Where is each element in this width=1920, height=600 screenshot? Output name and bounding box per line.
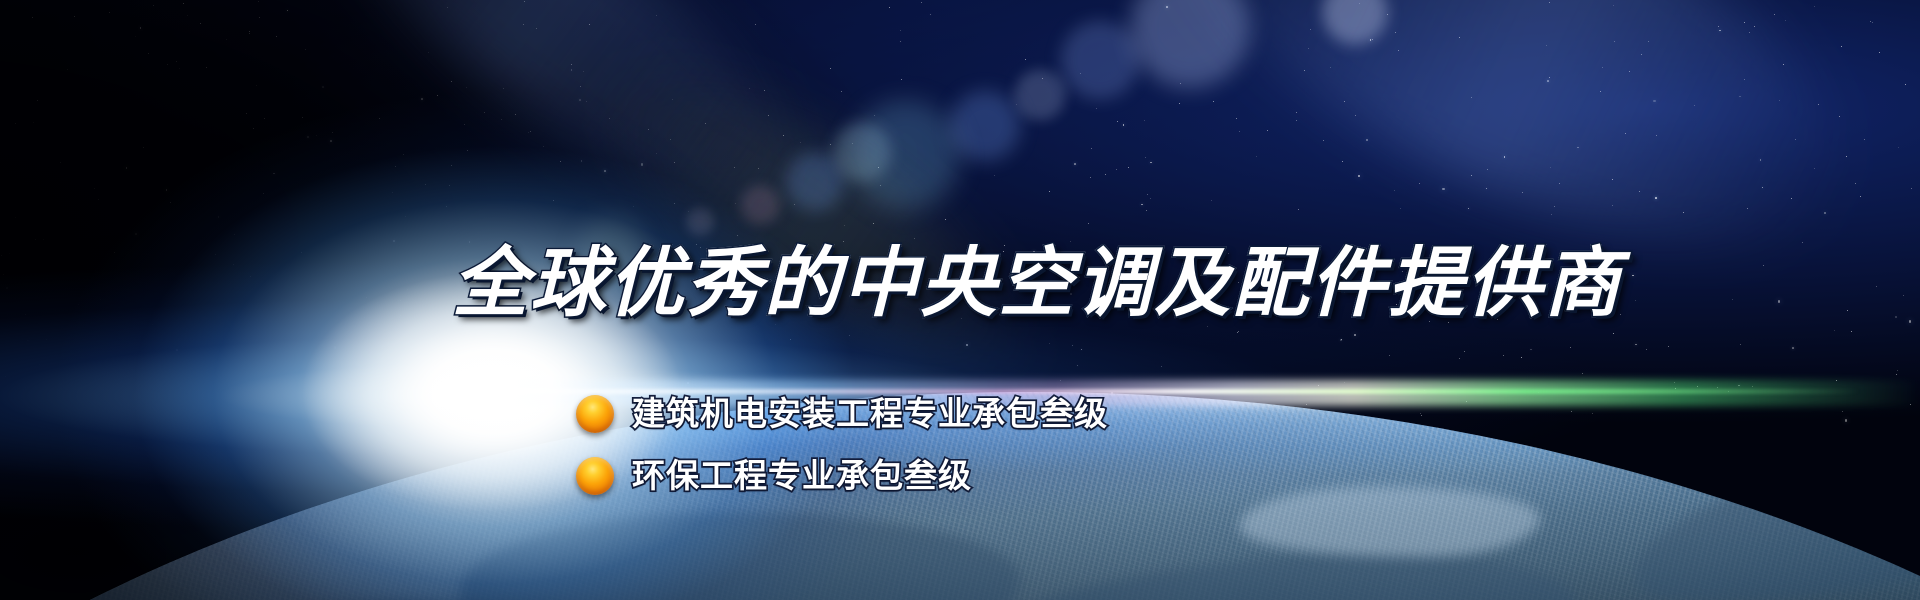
orange-dot-icon — [576, 457, 614, 495]
orange-dot-icon — [576, 395, 614, 433]
banner-bullet-item: 环保工程专业承包叁级 — [576, 454, 1108, 498]
banner-bullet-item: 建筑机电安装工程专业承包叁级 — [576, 392, 1108, 436]
banner-bullet-label: 环保工程专业承包叁级 — [632, 456, 972, 496]
banner-bullet-list: 建筑机电安装工程专业承包叁级 环保工程专业承包叁级 — [576, 392, 1108, 516]
banner-content: 全球优秀的中央空调及配件提供商 建筑机电安装工程专业承包叁级 环保工程专业承包叁… — [0, 0, 1920, 600]
banner-bullet-label: 建筑机电安装工程专业承包叁级 — [632, 394, 1108, 434]
banner-headline: 全球优秀的中央空调及配件提供商 — [452, 244, 1602, 324]
hero-banner: 全球优秀的中央空调及配件提供商 建筑机电安装工程专业承包叁级 环保工程专业承包叁… — [0, 0, 1920, 600]
